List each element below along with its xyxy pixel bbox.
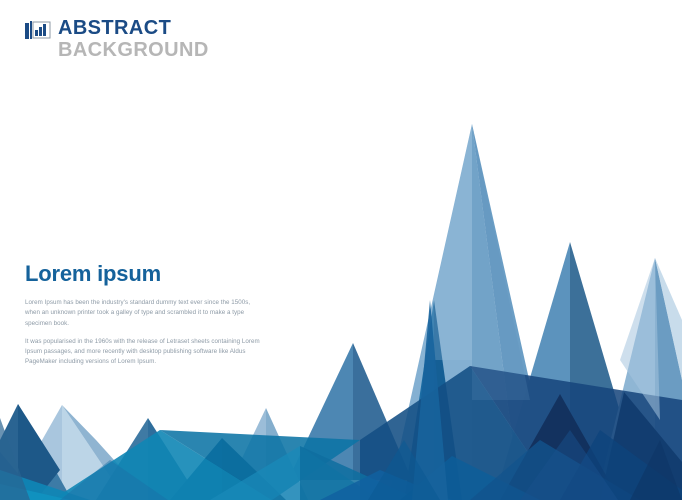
- poster-canvas: ABSTRACT BACKGROUND Lorem ipsum Lorem Ip…: [0, 0, 682, 500]
- band-bottom-blue-b: [400, 456, 540, 500]
- peak-small-266-right-face: [266, 408, 308, 500]
- wash-bottom-left-cyan-2: [0, 484, 70, 500]
- facet-right-pale-a: [655, 258, 682, 380]
- peak-left-pale-shadow: [62, 405, 150, 500]
- copy-paragraph-1: Lorem Ipsum has been the industry's stan…: [25, 298, 265, 329]
- peak-mid-353-left-face: [288, 343, 353, 480]
- brand-title: ABSTRACT: [58, 18, 209, 38]
- peak-navy-222-right-face: [222, 438, 286, 500]
- wash-bottom-mid-light: [210, 446, 380, 500]
- brand-wordmark: ABSTRACT BACKGROUND: [58, 18, 209, 60]
- shard-right-mid: [520, 430, 618, 500]
- copy-heading: Lorem ipsum: [25, 262, 265, 286]
- wash-bottom-left-teal: [0, 470, 90, 500]
- copy-block: Lorem ipsum Lorem Ipsum has been the ind…: [25, 262, 265, 368]
- peak-right-a-right-face: [570, 242, 646, 500]
- brand-subtitle: BACKGROUND: [58, 40, 209, 60]
- facet-right-pale-b: [620, 258, 660, 420]
- abstract-bars-mark-icon: [25, 21, 51, 39]
- peak-left-mid-left-face: [96, 418, 148, 500]
- mass-far-right-deep: [600, 392, 682, 500]
- peak-small-266-left-face: [222, 408, 266, 500]
- spire-center-right-face: [434, 300, 462, 500]
- mass-center-dark: [360, 366, 560, 500]
- band-bottom-blue-a: [320, 470, 452, 500]
- wedge-left-lower: [0, 452, 40, 500]
- copy-paragraph-2: It was popularised in the 1960s with the…: [25, 337, 265, 368]
- peak-left-pale-left-face: [8, 405, 62, 500]
- notch-left-of-main: [412, 300, 448, 500]
- mass-right-ink: [500, 394, 620, 500]
- peak-right-a-left-face: [494, 242, 570, 500]
- shard-far-left: [0, 418, 30, 500]
- peak-right-b-left-face: [596, 258, 655, 500]
- spire-center-left-face: [404, 300, 434, 500]
- peak-main-left-face: [388, 124, 472, 500]
- peak-far-left-left-face: [0, 404, 18, 500]
- mass-right-navy: [470, 366, 682, 500]
- band-bottom-blue-d: [560, 430, 682, 500]
- shard-left-lower: [60, 460, 168, 500]
- shard-right-edge: [630, 440, 682, 500]
- brand-header: ABSTRACT BACKGROUND: [25, 18, 209, 60]
- peak-navy-222-left-face: [170, 438, 222, 500]
- tint-main-peak-left: [420, 124, 472, 360]
- peak-main-mid-face: [472, 124, 520, 500]
- peak-left-mid-right-face: [148, 418, 200, 500]
- band-bottom-blue-c: [470, 440, 640, 500]
- peak-far-left-right-face: [18, 404, 72, 500]
- wash-bottom-left-cyan: [52, 430, 272, 500]
- tint-main-peak-right: [472, 124, 530, 400]
- wash-bottom-mid-teal: [160, 430, 360, 500]
- peak-main-right-face: [472, 124, 556, 500]
- peak-left-pale-right-face: [62, 405, 126, 500]
- low-poly-mountain-artwork: [0, 0, 682, 500]
- mass-center-lighter: [300, 446, 420, 500]
- peak-mid-353-right-face: [353, 343, 412, 480]
- peak-far-left-inner-shadow: [18, 404, 60, 500]
- shard-mid-upper: [368, 440, 440, 500]
- peak-right-b-right-face: [655, 258, 682, 500]
